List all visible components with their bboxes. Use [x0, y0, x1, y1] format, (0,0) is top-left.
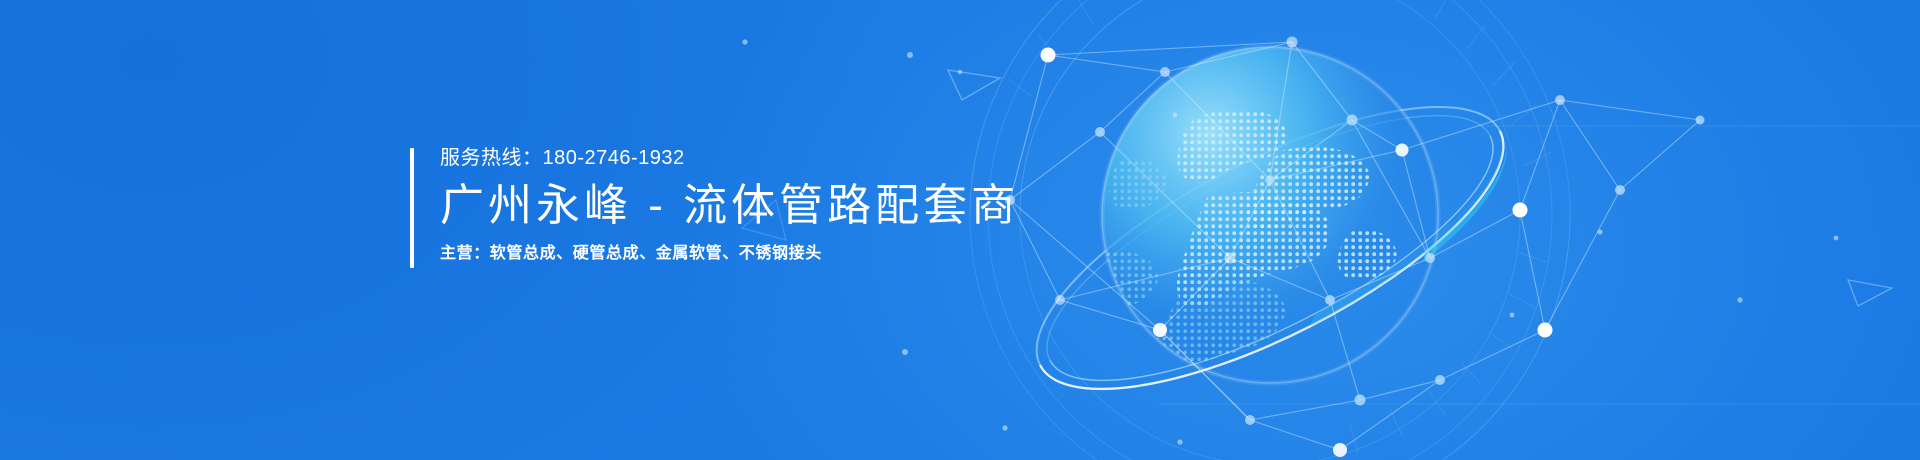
page-title: 广州永峰 - 流体管路配套商 — [440, 184, 1019, 228]
text-column: 服务热线：180-2746-1932 广州永峰 - 流体管路配套商 主营：软管总… — [440, 148, 1019, 268]
guide-lines — [1160, 126, 1920, 404]
globe-sphere — [1096, 47, 1438, 383]
orbit-ring-front — [1040, 131, 1540, 444]
radial-arc-grid — [970, 0, 1570, 460]
hotline-text: 服务热线：180-2746-1932 — [440, 148, 1019, 168]
orbit-ring-back — [1000, 52, 1540, 443]
hero-banner: 服务热线：180-2746-1932 广州永峰 - 流体管路配套商 主营：软管总… — [0, 0, 1920, 460]
orbit-ring-highlight — [1386, 131, 1538, 262]
globe-continents — [1096, 109, 1397, 382]
accent-bar — [410, 148, 414, 268]
hero-text-block: 服务热线：180-2746-1932 广州永峰 - 流体管路配套商 主营：软管总… — [410, 148, 1019, 268]
subtitle-text: 主营：软管总成、硬管总成、金属软管、不锈钢接头 — [440, 246, 1019, 262]
network-edges — [1010, 42, 1700, 450]
